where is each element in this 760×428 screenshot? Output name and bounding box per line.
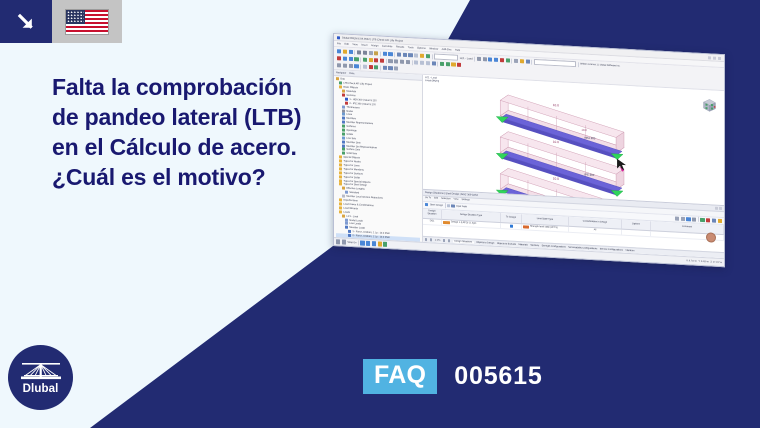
tree-node-icon bbox=[342, 144, 345, 147]
deformation-icon[interactable] bbox=[446, 62, 450, 66]
menu-item-addons[interactable]: Add-Ons bbox=[442, 48, 452, 52]
tree-node-icon bbox=[342, 109, 345, 112]
group-icon[interactable] bbox=[420, 61, 424, 65]
tree-node-icon bbox=[339, 206, 342, 209]
tree-node-icon bbox=[342, 187, 345, 190]
divider bbox=[358, 240, 359, 245]
app-logo-icon bbox=[337, 36, 340, 39]
show-supports-icon[interactable] bbox=[374, 65, 378, 69]
printpreview-icon[interactable] bbox=[363, 51, 367, 55]
us-flag-icon bbox=[65, 9, 109, 35]
us-flag-box[interactable] bbox=[52, 0, 122, 43]
divider bbox=[386, 58, 387, 63]
status-osnap-icon[interactable] bbox=[360, 241, 364, 245]
results-menu-view[interactable]: View bbox=[454, 199, 459, 201]
beam-model-graphic: 10.0 10.0 HEA 300 bbox=[423, 75, 724, 205]
svg-text:10.0: 10.0 bbox=[553, 140, 559, 144]
select-tool-icon[interactable] bbox=[388, 59, 392, 63]
col-design-situation: Design Situation bbox=[423, 208, 442, 218]
status-ortho-icon[interactable] bbox=[366, 241, 370, 245]
menu-item-assign[interactable]: Assign bbox=[371, 44, 379, 47]
menu-item-help[interactable]: Help bbox=[455, 49, 460, 52]
wireframe-icon[interactable] bbox=[483, 57, 487, 61]
divider bbox=[380, 51, 381, 56]
menu-item-edit[interactable]: Edit bbox=[345, 43, 349, 46]
tree-node-icon bbox=[339, 179, 342, 182]
divider bbox=[437, 61, 438, 66]
minimize-icon[interactable] bbox=[708, 56, 711, 59]
tree-node-icon bbox=[345, 98, 348, 101]
orientation-cube-icon[interactable] bbox=[701, 96, 718, 114]
tree-node-icon bbox=[342, 129, 345, 132]
clip-plane-icon[interactable] bbox=[388, 66, 392, 70]
svg-text:10.0: 10.0 bbox=[581, 128, 587, 132]
tree-node-icon bbox=[339, 198, 342, 201]
tree-node-icon bbox=[339, 167, 342, 170]
results-toolbar-select[interactable]: Steel Design bbox=[430, 204, 443, 207]
tree-node-label: Sections bbox=[346, 94, 355, 97]
grid-icon[interactable] bbox=[403, 53, 407, 57]
tree-node-icon bbox=[345, 226, 348, 229]
coord-z: Z: 27.107 m bbox=[710, 261, 722, 264]
svg-text:IPE 360: IPE 360 bbox=[584, 172, 594, 177]
tab-vibration[interactable]: Vibration bbox=[625, 249, 634, 251]
tab-objects-to-design[interactable]: Objects to Design bbox=[476, 241, 494, 244]
loadcase-value: LC1 - Load bbox=[460, 56, 473, 60]
layer-icon[interactable] bbox=[414, 60, 418, 64]
tree-node-icon bbox=[342, 195, 345, 198]
cell-options[interactable] bbox=[622, 229, 651, 236]
mirror-tool-icon[interactable] bbox=[400, 60, 404, 64]
visibility-icon[interactable] bbox=[506, 58, 510, 62]
paste-icon[interactable] bbox=[374, 51, 378, 55]
tree-node-label: Solids bbox=[346, 133, 353, 136]
snap-icon[interactable] bbox=[520, 59, 524, 63]
input-data-icon bbox=[451, 204, 454, 207]
tree-node-icon bbox=[342, 90, 345, 93]
chevron-down-icon[interactable] bbox=[447, 204, 450, 207]
tree-node-icon bbox=[345, 222, 348, 225]
tree-node-icon bbox=[342, 214, 345, 217]
view-side-icon[interactable] bbox=[349, 64, 353, 68]
prev-row-icon[interactable] bbox=[681, 216, 685, 220]
col-options: Options bbox=[622, 219, 651, 230]
tab-objects-to-exclude[interactable]: Objects to Exclude bbox=[497, 242, 516, 245]
coord-x: X: 9.710 m bbox=[686, 260, 697, 263]
menu-item-tools[interactable]: Tools bbox=[408, 46, 414, 49]
limit-state-chip bbox=[523, 225, 529, 228]
dlubal-logo[interactable]: Dlubal bbox=[8, 345, 73, 410]
measure-icon[interactable] bbox=[432, 61, 436, 65]
undo-icon[interactable] bbox=[383, 52, 387, 56]
find-icon[interactable] bbox=[686, 217, 690, 221]
tab-service-configurations[interactable]: Service Configurations bbox=[600, 248, 623, 251]
status-snap-label: Snap On bbox=[347, 241, 356, 243]
results-menu-selection[interactable]: Selection bbox=[441, 198, 450, 201]
divider bbox=[412, 60, 413, 65]
sort-icon[interactable] bbox=[692, 217, 696, 221]
divider bbox=[698, 217, 699, 222]
tree-node-icon bbox=[345, 218, 348, 221]
results-toolbar-button[interactable]: Input Data bbox=[456, 205, 467, 208]
new-icon[interactable] bbox=[337, 49, 341, 53]
node-tool-icon[interactable] bbox=[337, 56, 341, 60]
next-page-icon[interactable] bbox=[443, 239, 445, 242]
move-tool-icon[interactable] bbox=[394, 59, 398, 63]
render-icon[interactable] bbox=[477, 57, 481, 61]
navigator-panel[interactable]: Navigator Data Data LTB Check AFI Lilly … bbox=[334, 70, 423, 242]
pan-icon[interactable] bbox=[494, 58, 498, 62]
export-icon[interactable] bbox=[420, 54, 424, 58]
result-diagram-icon[interactable] bbox=[440, 62, 444, 66]
member-tool-icon[interactable] bbox=[349, 57, 353, 61]
model-viewport[interactable]: LC1 - Load Loads [kN/m] bbox=[423, 75, 724, 258]
situation-color-chip bbox=[443, 221, 450, 224]
prev-page-icon[interactable] bbox=[430, 239, 432, 242]
tree-node-icon bbox=[342, 140, 345, 143]
menu-item-options[interactable]: Options bbox=[417, 47, 426, 50]
menu-item-results[interactable]: Results bbox=[396, 45, 404, 48]
stress-icon[interactable] bbox=[451, 62, 455, 66]
tree-node-label: LC1 - Load bbox=[346, 214, 358, 218]
svg-text:10.0: 10.0 bbox=[553, 103, 559, 107]
page-title: Falta la comprobación de pandeo lateral … bbox=[52, 72, 310, 192]
array-tool-icon[interactable] bbox=[406, 60, 410, 64]
filter-icon[interactable] bbox=[426, 61, 430, 65]
tab-sections[interactable]: Sections bbox=[530, 244, 539, 246]
status-cs-icon[interactable] bbox=[378, 242, 382, 246]
tab-strength-configurations[interactable]: Strength Configurations bbox=[542, 245, 566, 248]
last-page-icon[interactable] bbox=[448, 240, 450, 243]
divider bbox=[360, 64, 361, 69]
nodal-load-icon[interactable] bbox=[380, 58, 384, 62]
faq-row: FAQ 005615 bbox=[363, 359, 543, 394]
divider bbox=[531, 59, 532, 64]
rfem-screenshot[interactable]: Dlubal RFEM 6.04.0042 | LTB Check AFI Li… bbox=[333, 33, 725, 267]
menu-item-file[interactable]: File bbox=[337, 42, 341, 45]
menu-item-window[interactable]: Window bbox=[429, 47, 438, 50]
results-menu-edit[interactable]: Edit bbox=[434, 198, 438, 200]
status-polar-icon[interactable] bbox=[372, 242, 376, 246]
window-controls[interactable] bbox=[708, 56, 721, 60]
results-menu-goto[interactable]: Go To bbox=[425, 197, 431, 199]
copy-icon[interactable] bbox=[369, 51, 373, 55]
tree-node-icon bbox=[345, 191, 348, 194]
panel-close-icon[interactable] bbox=[719, 207, 722, 210]
section-view-icon[interactable] bbox=[383, 66, 387, 70]
view-iso-icon[interactable] bbox=[354, 64, 358, 68]
list-icon[interactable] bbox=[408, 53, 412, 57]
arrow-down-right-icon bbox=[15, 11, 37, 33]
tab-data[interactable]: Data bbox=[349, 72, 354, 75]
tree-node-icon bbox=[339, 163, 342, 166]
svg-text:10.0: 10.0 bbox=[553, 177, 559, 181]
page-indicator: 1 of 1 bbox=[435, 239, 441, 241]
divider bbox=[445, 203, 446, 208]
cell-to-design[interactable] bbox=[501, 223, 522, 229]
tree-node-icon bbox=[342, 136, 345, 139]
surface-tool-icon[interactable] bbox=[354, 57, 358, 61]
checkbox-checked-icon[interactable] bbox=[510, 224, 513, 227]
maximize-icon[interactable] bbox=[713, 56, 716, 59]
tree-node-icon bbox=[342, 125, 345, 128]
save-icon[interactable] bbox=[349, 50, 353, 54]
project-icon bbox=[339, 82, 342, 85]
report-icon[interactable] bbox=[414, 53, 418, 57]
tree-node-icon bbox=[342, 121, 345, 124]
tree-node-icon bbox=[348, 230, 351, 233]
tree-node-icon bbox=[342, 132, 345, 135]
tab-serviceability-configurations[interactable]: Serviceability Configurations bbox=[568, 246, 597, 250]
transparency-icon[interactable] bbox=[394, 66, 398, 70]
divider bbox=[394, 52, 395, 57]
license-label: Written Licence 1 | Dlubal Software Inc. bbox=[580, 63, 620, 67]
tree-node-icon bbox=[342, 93, 345, 96]
navigator-tree[interactable]: Data LTB Check AFI Lilly Project Basic O… bbox=[334, 76, 422, 242]
load-tool-icon[interactable] bbox=[374, 58, 378, 62]
calculate-icon[interactable] bbox=[426, 54, 430, 58]
steel-design-icon bbox=[425, 203, 428, 207]
menu-item-view[interactable]: View bbox=[352, 43, 357, 46]
divider bbox=[360, 57, 361, 62]
tree-node-icon bbox=[339, 171, 342, 174]
tab-design-situations[interactable]: Design Situations bbox=[453, 240, 474, 243]
arrow-down-right-box[interactable] bbox=[0, 0, 52, 43]
print-icon[interactable] bbox=[357, 50, 361, 54]
support-tool-icon[interactable] bbox=[363, 58, 367, 62]
tree-node-label: Loads bbox=[343, 210, 350, 213]
tree-node-icon bbox=[339, 175, 342, 178]
dimension-icon[interactable] bbox=[526, 59, 530, 63]
tree-node-icon bbox=[339, 202, 342, 205]
divider bbox=[380, 65, 381, 70]
tree-node-icon bbox=[342, 117, 345, 120]
rotate-icon[interactable] bbox=[500, 58, 504, 62]
tree-node-icon bbox=[345, 101, 348, 104]
hinge-tool-icon[interactable] bbox=[369, 58, 373, 62]
divider bbox=[474, 56, 475, 61]
panel-minimize-icon[interactable] bbox=[715, 207, 718, 210]
tree-node-icon bbox=[339, 86, 342, 89]
tree-node-icon bbox=[342, 105, 345, 108]
tab-materials[interactable]: Materials bbox=[518, 244, 527, 247]
status-layer-icon[interactable] bbox=[383, 242, 387, 246]
table-icon[interactable] bbox=[397, 52, 401, 56]
cell-no: DS1 bbox=[423, 218, 442, 224]
results-menu-settings[interactable]: Settings bbox=[461, 199, 469, 201]
close-icon[interactable] bbox=[718, 56, 721, 59]
tree-node-label: Nodes bbox=[346, 109, 353, 112]
first-page-icon[interactable] bbox=[425, 238, 427, 241]
status-snap-icon[interactable] bbox=[342, 240, 346, 244]
status-coordinates: X: 9.710 m Y: 0.000 m Z: 27.107 m bbox=[686, 260, 722, 264]
tree-node-icon bbox=[348, 234, 351, 237]
tree-node-label: Lines bbox=[346, 113, 352, 116]
tab-navigator[interactable]: Navigator bbox=[336, 71, 346, 75]
open-icon[interactable] bbox=[343, 49, 347, 53]
delete-row-icon[interactable] bbox=[706, 218, 710, 222]
faq-number: 005615 bbox=[454, 362, 542, 391]
tree-node-icon bbox=[339, 156, 342, 159]
dlubal-wordmark: Dlubal bbox=[23, 384, 59, 395]
divider bbox=[354, 50, 355, 55]
tree-node-icon bbox=[342, 152, 345, 155]
col-to-design: To Design bbox=[501, 213, 522, 223]
menu-item-calculate[interactable]: Calculate bbox=[382, 45, 392, 49]
divider bbox=[432, 54, 433, 59]
redo-icon[interactable] bbox=[388, 52, 392, 56]
view-front-icon[interactable] bbox=[337, 63, 341, 67]
tree-node-icon bbox=[339, 159, 342, 162]
truss-bridge-icon bbox=[20, 361, 62, 383]
language-badge[interactable] bbox=[0, 0, 122, 43]
slide-canvas: Dlubal RFEM 6.04.0042 | LTB Check AFI Li… bbox=[0, 0, 760, 428]
first-row-icon[interactable] bbox=[675, 216, 679, 220]
delete-icon[interactable] bbox=[457, 63, 461, 67]
tree-node-icon bbox=[339, 210, 342, 213]
line-tool-icon[interactable] bbox=[343, 56, 347, 60]
svg-text:HEA 300: HEA 300 bbox=[584, 136, 595, 141]
divider bbox=[511, 58, 512, 63]
export-table-icon[interactable] bbox=[718, 218, 722, 222]
print-table-icon[interactable] bbox=[712, 218, 716, 222]
zoom-icon[interactable] bbox=[488, 57, 492, 61]
show-loads-icon[interactable] bbox=[369, 65, 373, 69]
app-body: Navigator Data Data LTB Check AFI Lilly … bbox=[334, 70, 724, 258]
show-numbers-icon[interactable] bbox=[363, 65, 367, 69]
menu-item-insert[interactable]: Insert bbox=[361, 44, 367, 47]
settings-icon[interactable] bbox=[514, 59, 518, 63]
divider bbox=[578, 62, 579, 67]
support-avatar[interactable] bbox=[706, 232, 716, 243]
view-top-icon[interactable] bbox=[343, 63, 347, 67]
status-grid-icon[interactable] bbox=[336, 240, 340, 244]
coord-y: Y: 0.000 m bbox=[698, 260, 708, 263]
add-row-icon[interactable] bbox=[700, 217, 704, 221]
model-canvas[interactable]: 10.0 10.0 HEA 300 bbox=[423, 75, 724, 205]
faq-badge: FAQ bbox=[363, 359, 437, 394]
